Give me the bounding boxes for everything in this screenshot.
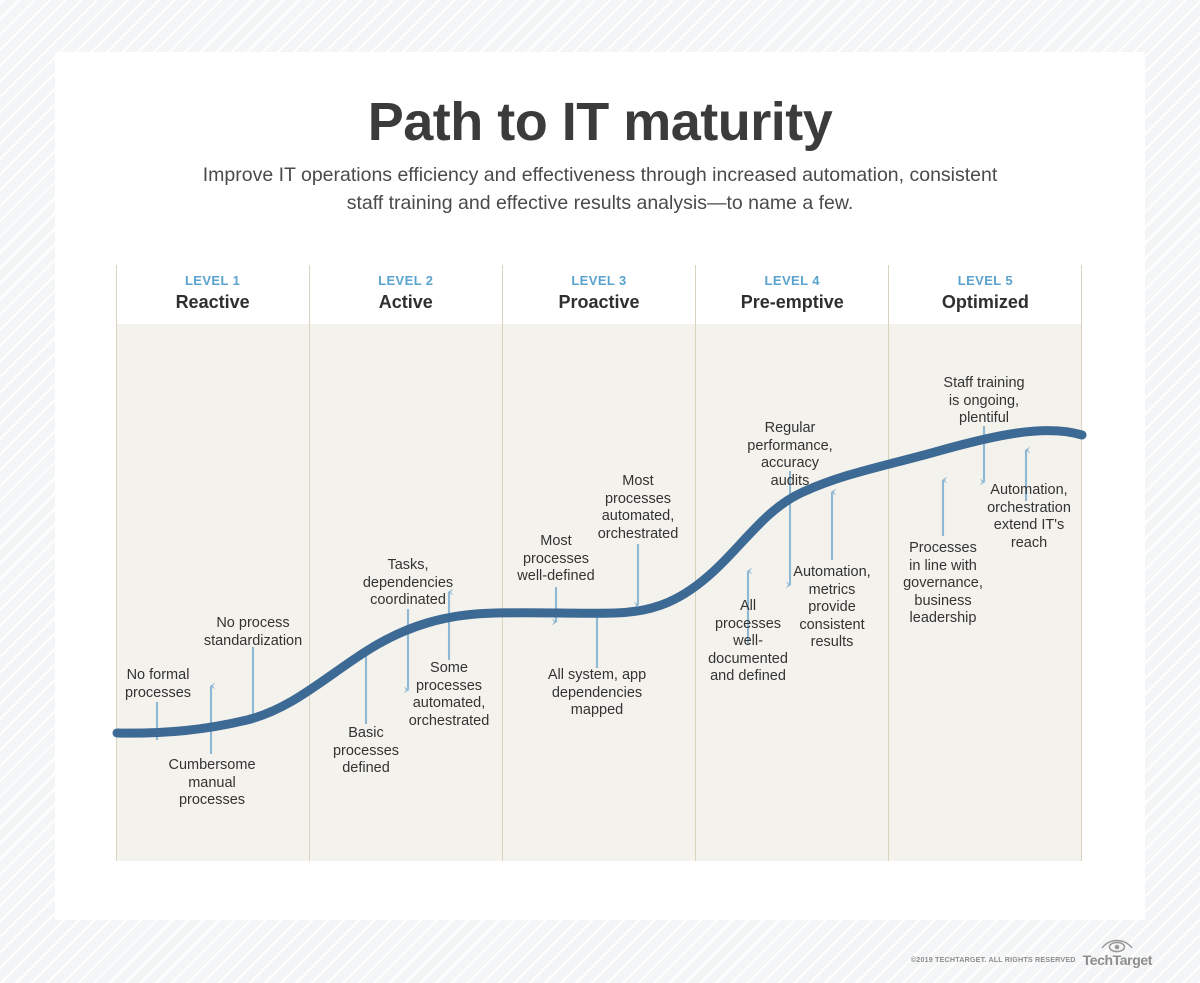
annotation-no-formal-processes: No formal processes — [113, 667, 203, 702]
annotation-automation-orchestration: Automation, orchestration extend IT's re… — [971, 482, 1087, 552]
level-header-5: LEVEL 5 Optimized — [889, 265, 1082, 324]
page-title: Path to IT maturity — [55, 94, 1145, 151]
annotation-all-system-app-deps: All system, app dependencies mapped — [533, 667, 661, 720]
annotation-processes-governance: Processes in line with governance, busin… — [888, 540, 998, 628]
techtarget-logo: TechTarget — [1083, 937, 1152, 967]
footer: ©2019 TECHTARGET. ALL RIGHTS RESERVED Te… — [911, 937, 1152, 967]
annotation-cumbersome-manual: Cumbersome manual processes — [154, 757, 270, 810]
annotation-no-process-standardization: No process standardization — [195, 615, 311, 650]
annotation-tasks-dependencies: Tasks, dependencies coordinated — [352, 557, 464, 610]
annotation-some-processes-automated: Some processes automated, orchestrated — [393, 660, 505, 730]
level-tag-5: LEVEL 5 — [889, 272, 1082, 291]
level-name-3: Proactive — [502, 291, 695, 314]
eye-icon — [1100, 937, 1134, 953]
annotation-most-processes-automated: Most processes automated, orchestrated — [583, 473, 693, 543]
column-divider-3 — [695, 265, 696, 861]
copyright-text: ©2019 TECHTARGET. ALL RIGHTS RESERVED — [911, 955, 1076, 967]
page-subtitle: Improve IT operations efficiency and eff… — [200, 162, 1000, 217]
column-divider-5 — [1081, 265, 1082, 861]
level-header-3: LEVEL 3 Proactive — [502, 265, 695, 324]
level-name-2: Active — [309, 291, 502, 314]
level-tag-3: LEVEL 3 — [502, 272, 695, 291]
level-name-4: Pre-emptive — [696, 291, 889, 314]
annotation-automation-metrics: Automation, metrics provide consistent r… — [778, 564, 886, 652]
annotation-basic-processes-defined: Basic processes defined — [317, 725, 415, 778]
level-header-row: LEVEL 1 Reactive LEVEL 2 Active LEVEL 3 … — [116, 265, 1082, 324]
level-header-4: LEVEL 4 Pre-emptive — [696, 265, 889, 324]
column-divider-0 — [116, 265, 117, 861]
level-header-1: LEVEL 1 Reactive — [116, 265, 309, 324]
annotation-staff-training-ongoing: Staff training is ongoing, plentiful — [921, 375, 1047, 428]
infographic-card: Path to IT maturity Improve IT operation… — [55, 52, 1145, 920]
level-tag-1: LEVEL 1 — [116, 272, 309, 291]
annotation-regular-performance-audits: Regular performance, accuracy audits — [735, 420, 845, 490]
level-name-5: Optimized — [889, 291, 1082, 314]
level-tag-4: LEVEL 4 — [696, 272, 889, 291]
column-divider-1 — [309, 265, 310, 861]
level-header-2: LEVEL 2 Active — [309, 265, 502, 324]
logo-wordmark: TechTarget — [1083, 953, 1152, 967]
level-name-1: Reactive — [116, 291, 309, 314]
level-tag-2: LEVEL 2 — [309, 272, 502, 291]
